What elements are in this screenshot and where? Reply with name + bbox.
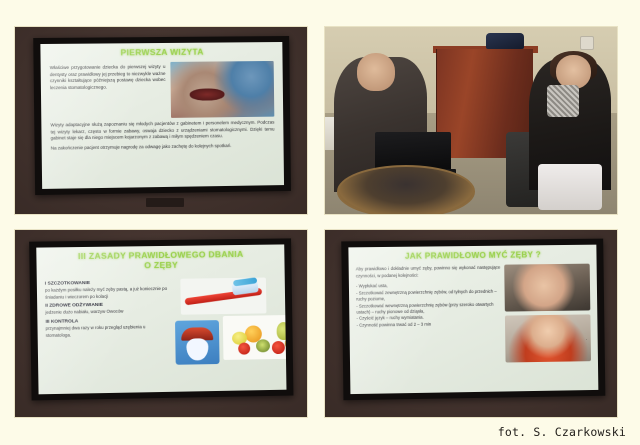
slide-title: JAK PRAWIDŁOWO MYĆ ZĘBY ?: [355, 250, 591, 262]
round-table: [337, 165, 475, 214]
photo-credit: fot. S. Czarkowski: [498, 425, 626, 439]
tooth-shape: [187, 338, 209, 360]
wall-outlet: [580, 36, 594, 49]
slide-paragraph-2: Wizyty adaptacyjne służą zapoznaniu się …: [41, 119, 283, 142]
fruit-bowl-image: [223, 315, 286, 360]
rule-3-text: przynajmniej dwa razy w roku przegląd uz…: [46, 324, 172, 340]
projector-screen-mount: [146, 198, 184, 207]
toothbrush-image: [181, 277, 267, 314]
slide-paragraph-3: Na zakończenie pacjent otrzymuje nagrodę…: [42, 142, 284, 152]
rule-1-text: po każdym posiłku należy myć zęby pastą,…: [45, 286, 171, 302]
projection-screen-bezel: PIERWSZA WIZYTA Właściwe przygotowanie d…: [33, 36, 291, 195]
woman-trousers: [538, 164, 602, 211]
brushing-images: [504, 264, 591, 367]
projection-screen-bezel: JAK PRAWIDŁOWO MYĆ ZĘBY ? Aby prawidłowo…: [341, 239, 605, 401]
fruit-apple: [285, 337, 287, 350]
presenters-photo: [325, 27, 617, 214]
man-head: [357, 53, 395, 90]
rule-2-text: jedzenie dużo nabiału, warzyw Owoców: [45, 308, 171, 317]
slide-first-visit: PIERWSZA WIZYTA Właściwe przygotowanie d…: [40, 42, 284, 189]
slide-how-to-brush: JAK PRAWIDŁOWO MYĆ ZĘBY ? Aby prawidłowo…: [348, 245, 598, 394]
woman-head: [556, 55, 591, 89]
fruit-strawberry-2: [272, 341, 285, 354]
collage-panel-top-right: [324, 26, 618, 215]
brushing-instructions: Aby prawidłowo i dokładnie umyć zęby, po…: [356, 265, 502, 369]
brushing-step-5: - Czynność powinna trwać od 2 – 3 min: [357, 320, 502, 328]
slide-top-row: Właściwe przygotowanie dziecka do pierws…: [41, 61, 284, 120]
toddler-brushing-photo: [504, 264, 590, 312]
slide-paragraph-1: Właściwe przygotowanie dziecka do pierws…: [50, 62, 166, 119]
fruit-kiwi: [256, 339, 270, 352]
fruit-strawberry-1: [238, 342, 250, 354]
girl-with-toothbrush-photo: [505, 315, 591, 363]
slide-title: PIERWSZA WIZYTA: [40, 47, 282, 59]
projection-screen-bezel: III ZASADY PRAWIDŁOWEGO DBANIA O ZĘBY I …: [29, 238, 293, 400]
photo-collage: PIERWSZA WIZYTA Właściwe przygotowanie d…: [0, 0, 640, 445]
rules-images: [175, 275, 278, 338]
fruit-pear: [277, 322, 287, 340]
dental-treatment-photo: [170, 61, 274, 118]
collage-panel-bottom-left: III ZASADY PRAWIDŁOWEGO DBANIA O ZĘBY I …: [14, 229, 308, 418]
collage-panel-bottom-right: JAK PRAWIDŁOWO MYĆ ZĘBY ? Aby prawidłowo…: [324, 229, 618, 418]
collage-panel-top-left: PIERWSZA WIZYTA Właściwe przygotowanie d…: [14, 26, 308, 215]
slide-dental-care-rules: III ZASADY PRAWIDŁOWEGO DBANIA O ZĘBY I …: [36, 244, 286, 394]
slide-content-row: Aby prawidłowo i dokładnie umyć zęby, po…: [349, 263, 598, 369]
slide-content-row: I SZCZOTKOWANIE po każdym posiłku należy…: [37, 273, 286, 340]
cartoon-tooth-image: [175, 320, 220, 365]
woman-scarf: [547, 85, 579, 117]
backpack-on-cabinet: [486, 33, 524, 50]
rules-list: I SZCZOTKOWANIE po każdym posiłku należy…: [45, 277, 172, 340]
slide-title: III ZASADY PRAWIDŁOWEGO DBANIA O ZĘBY: [42, 249, 278, 272]
